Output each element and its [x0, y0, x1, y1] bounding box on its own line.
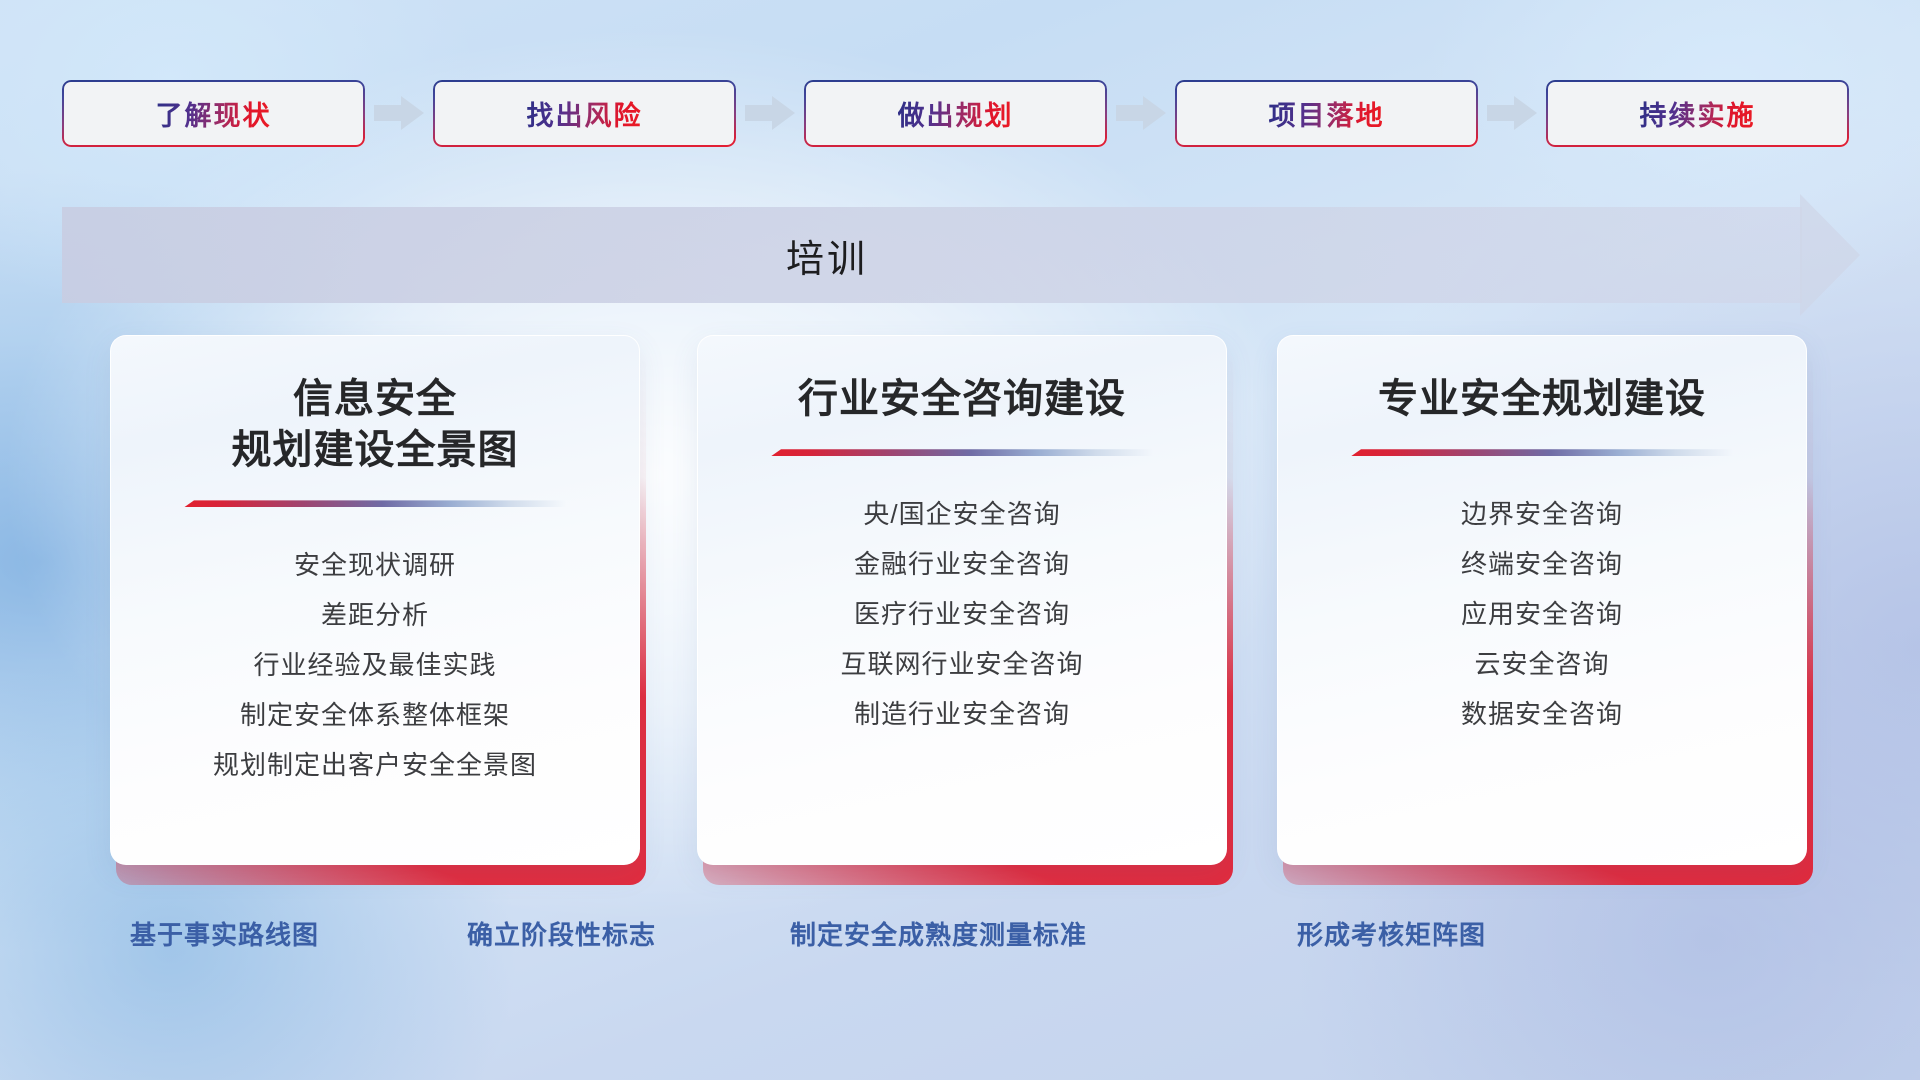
- list-item: 数据安全咨询: [1461, 689, 1623, 739]
- card-title-2-line-1: 行业安全咨询建设: [719, 374, 1205, 425]
- step-label-4: 项目落地: [1269, 94, 1385, 133]
- list-item: 安全现状调研: [294, 540, 456, 590]
- outcome-label-4: 形成考核矩阵图: [1297, 915, 1486, 952]
- list-item: 应用安全咨询: [1461, 589, 1623, 639]
- list-item: 制造行业安全咨询: [854, 689, 1070, 739]
- card-divider-3: [1351, 447, 1733, 459]
- card-divider-bar-3: [1351, 449, 1733, 456]
- step-box-3[interactable]: 做出规划: [804, 80, 1107, 147]
- card-title-1-line-1: 信息安全: [132, 374, 618, 425]
- step-arrow-icon-2: [736, 93, 804, 133]
- list-item: 差距分析: [321, 590, 429, 640]
- training-banner: 培训: [62, 207, 1860, 303]
- capability-card-group: 信息安全 规划建设全景图 安全现状调研 差距分析 行业经验及最佳实践 制定安全体…: [0, 335, 1920, 880]
- card-divider-1: [184, 498, 566, 510]
- step-arrow-icon-4: [1478, 93, 1546, 133]
- list-item: 行业经验及最佳实践: [253, 640, 496, 690]
- card-title-1: 信息安全 规划建设全景图: [132, 374, 618, 476]
- step-box-4[interactable]: 项目落地: [1175, 80, 1478, 147]
- capability-card-2-wrapper: 行业安全咨询建设 央/国企安全咨询 金融行业安全咨询 医疗行业安全咨询 互联网行…: [697, 335, 1227, 880]
- capability-card-2[interactable]: 行业安全咨询建设 央/国企安全咨询 金融行业安全咨询 医疗行业安全咨询 互联网行…: [697, 335, 1227, 865]
- list-item: 医疗行业安全咨询: [854, 589, 1070, 639]
- card-title-2: 行业安全咨询建设: [719, 374, 1205, 425]
- process-step-row: 了解现状 找出风险 做出规划 项目落地: [62, 78, 1862, 148]
- card-list-1: 安全现状调研 差距分析 行业经验及最佳实践 制定安全体系整体框架 规划制定出客户…: [111, 540, 639, 790]
- step-label-5: 持续实施: [1640, 94, 1756, 133]
- outcome-label-1: 基于事实路线图: [130, 915, 319, 952]
- card-divider-bar-2: [771, 449, 1153, 456]
- list-item: 制定安全体系整体框架: [240, 690, 510, 740]
- list-item: 央/国企安全咨询: [863, 489, 1060, 539]
- list-item: 互联网行业安全咨询: [840, 639, 1083, 689]
- card-divider-2: [771, 447, 1153, 459]
- card-title-3: 专业安全规划建设: [1299, 374, 1785, 425]
- step-box-1[interactable]: 了解现状: [62, 80, 365, 147]
- capability-card-1[interactable]: 信息安全 规划建设全景图 安全现状调研 差距分析 行业经验及最佳实践 制定安全体…: [110, 335, 640, 865]
- step-arrow-icon-3: [1107, 93, 1175, 133]
- card-divider-bar-1: [184, 500, 566, 507]
- step-label-2: 找出风险: [527, 94, 643, 133]
- outcome-label-3: 制定安全成熟度测量标准: [790, 915, 1087, 952]
- list-item: 规划制定出客户安全全景图: [213, 740, 537, 790]
- capability-card-1-wrapper: 信息安全 规划建设全景图 安全现状调研 差距分析 行业经验及最佳实践 制定安全体…: [110, 335, 640, 880]
- list-item: 云安全咨询: [1474, 639, 1609, 689]
- card-list-2: 央/国企安全咨询 金融行业安全咨询 医疗行业安全咨询 互联网行业安全咨询 制造行…: [698, 489, 1226, 739]
- list-item: 终端安全咨询: [1461, 539, 1623, 589]
- card-title-1-line-2: 规划建设全景图: [132, 425, 618, 476]
- outcome-label-2: 确立阶段性标志: [467, 915, 656, 952]
- list-item: 金融行业安全咨询: [854, 539, 1070, 589]
- slide-canvas: 了解现状 找出风险 做出规划 项目落地: [0, 0, 1920, 1080]
- training-banner-label: 培训: [62, 207, 1592, 303]
- step-label-3: 做出规划: [898, 94, 1014, 133]
- outcome-label-row: 基于事实路线图 确立阶段性标志 制定安全成熟度测量标准 形成考核矩阵图: [0, 915, 1920, 971]
- card-list-3: 边界安全咨询 终端安全咨询 应用安全咨询 云安全咨询 数据安全咨询: [1278, 489, 1806, 739]
- step-box-5[interactable]: 持续实施: [1546, 80, 1849, 147]
- training-banner-arrow-tip-icon: [1800, 194, 1860, 316]
- card-title-3-line-1: 专业安全规划建设: [1299, 374, 1785, 425]
- step-box-2[interactable]: 找出风险: [433, 80, 736, 147]
- capability-card-3-wrapper: 专业安全规划建设 边界安全咨询 终端安全咨询 应用安全咨询 云安全咨询 数据安全…: [1277, 335, 1807, 880]
- step-arrow-icon-1: [365, 93, 433, 133]
- list-item: 边界安全咨询: [1461, 489, 1623, 539]
- step-label-1: 了解现状: [156, 94, 272, 133]
- capability-card-3[interactable]: 专业安全规划建设 边界安全咨询 终端安全咨询 应用安全咨询 云安全咨询 数据安全…: [1277, 335, 1807, 865]
